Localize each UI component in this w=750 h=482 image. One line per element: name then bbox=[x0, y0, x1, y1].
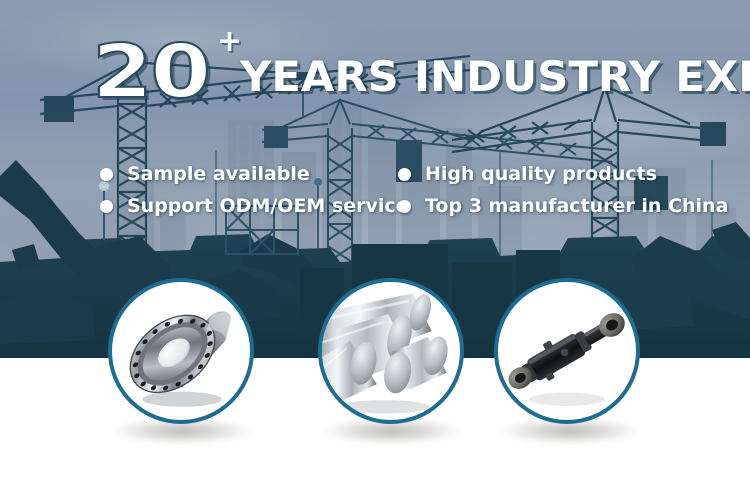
bullet-dot-icon bbox=[398, 200, 411, 213]
headline-text: YEARS INDUSTRY EXPERIENCE bbox=[240, 52, 750, 101]
bullet-label: Top 3 manufacturer in China bbox=[425, 195, 728, 217]
promo-banner: 20 + YEARS INDUSTRY EXPERIENCE Sample av… bbox=[0, 0, 750, 482]
plus-symbol: + bbox=[217, 24, 242, 59]
bullet-label: Support ODM/OEM service bbox=[127, 195, 409, 217]
headline: 20 + YEARS INDUSTRY EXPERIENCE bbox=[92, 42, 750, 103]
bullet-item: High quality products bbox=[398, 158, 728, 190]
bullet-dot-icon bbox=[100, 200, 113, 213]
product-circle-steel-round-bars[interactable] bbox=[318, 278, 464, 424]
steel-flange-pipe-icon bbox=[112, 282, 250, 420]
hydraulic-cylinder-icon bbox=[498, 282, 636, 420]
bullet-dot-icon bbox=[100, 168, 113, 181]
bullet-dot-icon bbox=[398, 168, 411, 181]
bullet-item: Top 3 manufacturer in China bbox=[398, 190, 728, 222]
product-circle-hydraulic-cylinder[interactable] bbox=[494, 278, 640, 424]
product-circle-steel-flange-pipe[interactable] bbox=[108, 278, 254, 424]
feature-bullets: Sample available Support ODM/OEM service… bbox=[0, 158, 750, 222]
bullet-item: Support ODM/OEM service bbox=[100, 190, 409, 222]
years-count: 20 bbox=[92, 42, 209, 103]
bullet-label: High quality products bbox=[425, 163, 657, 185]
bullet-column-right: High quality products Top 3 manufacturer… bbox=[398, 158, 728, 222]
bullet-column-left: Sample available Support ODM/OEM service bbox=[100, 158, 409, 222]
steel-round-bars-icon bbox=[322, 282, 460, 420]
bullet-item: Sample available bbox=[100, 158, 409, 190]
bullet-label: Sample available bbox=[127, 163, 310, 185]
